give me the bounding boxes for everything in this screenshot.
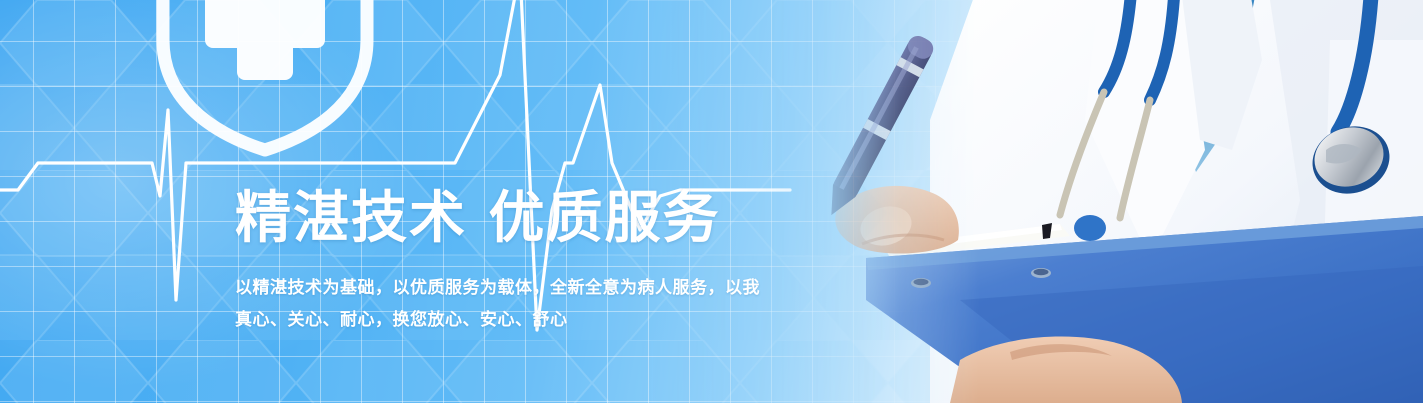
page-title: 精湛技术 优质服务 xyxy=(235,188,935,250)
subtitle-line-2: 真心、关心、耐心，换您放心、安心、舒心 xyxy=(235,304,760,336)
subtitle-line-1: 以精湛技术为基础，以优质服务为载体，全新全意为病人服务，以我 xyxy=(235,272,760,304)
banner-subtitle: 以精湛技术为基础，以优质服务为载体，全新全意为病人服务，以我 真心、关心、耐心，… xyxy=(235,272,760,336)
medical-hero-banner: 精湛技术 优质服务 以精湛技术为基础，以优质服务为载体，全新全意为病人服务，以我… xyxy=(0,0,1423,403)
banner-text-block: 精湛技术 优质服务 以精湛技术为基础，以优质服务为载体，全新全意为病人服务，以我… xyxy=(235,188,935,336)
